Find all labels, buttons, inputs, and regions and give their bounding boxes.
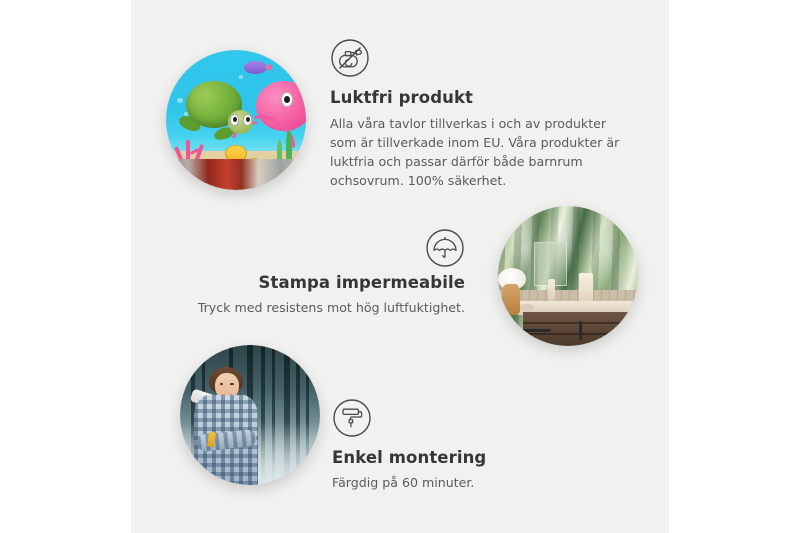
feature-title: Luktfri produkt — [330, 88, 620, 109]
icon-container — [175, 228, 465, 268]
feature-waterproof: Stampa impermeabile Tryck med resistens … — [175, 228, 465, 317]
feature-title: Enkel montering — [332, 448, 622, 469]
feature-description: Tryck med resistens mot hög luftfuktighe… — [175, 298, 465, 317]
copper-vase — [502, 284, 520, 315]
umbrella-icon — [425, 228, 465, 268]
photo-strip-foreground — [166, 159, 306, 190]
cabinet-handle — [579, 321, 582, 341]
feature-odourless: Luktfri produkt Alla våra tavlor tillver… — [330, 38, 620, 190]
towel-stack — [579, 273, 593, 304]
product-feature-infographic: Luktfri produkt Alla våra tavlor tillver… — [0, 0, 800, 533]
bubble-icon — [177, 98, 183, 104]
feature-description: Alla våra tavlor tillverkas i och av pro… — [330, 114, 620, 191]
icon-container — [332, 398, 622, 442]
soap-bottle — [548, 279, 555, 301]
no-fragrance-icon — [330, 38, 370, 78]
image-bathroom-botanical-wallpaper — [498, 206, 638, 346]
turtle-eye — [243, 114, 252, 125]
feature-mounting: Enkel montering Färgdig på 60 minuter. — [332, 398, 622, 492]
icon-container — [330, 38, 620, 82]
feature-title: Stampa impermeabile — [175, 273, 465, 294]
purple-fish — [244, 61, 266, 74]
paint-roller-icon — [332, 398, 372, 438]
image-cartoon-underwater-scene — [166, 50, 306, 190]
woman-eye — [230, 383, 234, 385]
image-woman-with-paint-roller — [180, 345, 320, 485]
drawer-handle — [520, 329, 551, 332]
feature-description: Färgdig på 60 minuter. — [332, 473, 622, 492]
